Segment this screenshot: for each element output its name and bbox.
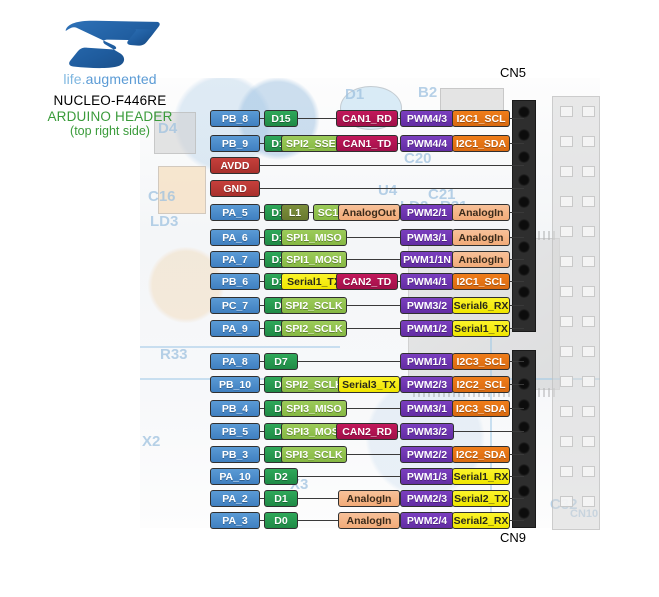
pin-label-pin[interactable]: PA_7	[210, 251, 260, 268]
signal-lead	[347, 454, 400, 455]
pin-label-pwm[interactable]: PWM1/1N	[400, 251, 454, 268]
signal-lead	[347, 259, 400, 260]
pin-label-pwm[interactable]: PWM3/1	[400, 229, 454, 246]
pin-label-pwm[interactable]: PWM1/3	[400, 468, 454, 485]
pin-row: PA_8D7PWM1/1I2C3_SCL	[0, 353, 659, 370]
pin-label-pin[interactable]: PB_8	[210, 110, 260, 127]
pin-row: PA_9D8SPI2_SCLKPWM1/2Serial1_TX	[0, 320, 659, 337]
pin-label-pin[interactable]: PA_6	[210, 229, 260, 246]
signal-lead-to-connector	[510, 237, 524, 238]
pin-label-can[interactable]: CAN1_RD	[336, 110, 398, 127]
pin-label-pwm[interactable]: PWM2/4	[400, 512, 454, 529]
pin-label-spi[interactable]: SPI2_SCLK	[281, 297, 347, 314]
signal-lead-to-connector	[510, 328, 524, 329]
pin-label-pin[interactable]: PA_3	[210, 512, 260, 529]
signal-lead-to-connector	[510, 118, 524, 119]
signal-lead-to-connector	[510, 454, 524, 455]
pin-label-pin[interactable]: PB_4	[210, 400, 260, 417]
pin-label-dnum[interactable]: D7	[264, 353, 298, 370]
signal-lead-to-connector	[260, 165, 524, 166]
pin-label-can[interactable]: CAN2_TD	[336, 273, 398, 290]
pin-label-pin[interactable]: PB_3	[210, 446, 260, 463]
pin-label-pwm[interactable]: PWM2/1	[400, 204, 454, 221]
pcb-silkscreen-label: B2	[418, 84, 437, 101]
signal-lead-to-connector	[510, 408, 524, 409]
pin-label-pin[interactable]: PA_2	[210, 490, 260, 507]
pin-label-pwm[interactable]: PWM2/3	[400, 376, 454, 393]
signal-lead	[298, 498, 338, 499]
pin-label-power[interactable]: AVDD	[210, 157, 260, 174]
pin-label-i2c[interactable]: I2C1_SCL	[452, 110, 510, 127]
pin-label-dnum[interactable]: D15	[264, 110, 298, 127]
pin-label-can[interactable]: CAN1_TD	[336, 135, 398, 152]
pin-label-i2c[interactable]: I2C2_SCL	[452, 376, 510, 393]
pin-label-i2c[interactable]: I2C2_SDA	[452, 446, 510, 463]
signal-lead	[347, 237, 400, 238]
pin-row: PA_2D1AnalogInPWM2/3Serial2_TX	[0, 490, 659, 507]
pin-label-pwm[interactable]: PWM2/2	[400, 446, 454, 463]
pin-label-pin[interactable]: PA_8	[210, 353, 260, 370]
pin-label-serial[interactable]: Serial6_RX	[452, 297, 510, 314]
pin-row: PB_9D14SPI2_SSELCAN1_TDPWM4/4I2C1_SDA	[0, 135, 659, 152]
pin-label-spi[interactable]: SPI2_SCLK	[281, 320, 347, 337]
pin-label-pwm[interactable]: PWM3/1	[400, 400, 454, 417]
pin-row: PB_5D4SPI3_MOSICAN2_RDPWM3/2	[0, 423, 659, 440]
pin-label-l1[interactable]: L1	[281, 204, 309, 221]
pin-row: AVDD	[0, 157, 659, 174]
tagline: life.augmented	[30, 71, 190, 87]
pin-label-i2c[interactable]: I2C3_SDA	[452, 400, 510, 417]
pin-label-pin[interactable]: PA_10	[210, 468, 260, 485]
pin-label-serial[interactable]: Serial2_TX	[452, 490, 510, 507]
pin-row: PC_7D9SPI2_SCLKPWM3/2Serial6_RX	[0, 297, 659, 314]
signal-lead	[347, 305, 400, 306]
pin-label-analog[interactable]: AnalogIn	[338, 490, 400, 507]
pin-label-analog[interactable]: AnalogIn	[452, 251, 510, 268]
pin-label-serial[interactable]: Serial2_RX	[452, 512, 510, 529]
signal-lead-to-connector	[510, 361, 524, 362]
pin-label-serial[interactable]: Serial1_RX	[452, 468, 510, 485]
signal-lead-to-connector	[454, 431, 524, 432]
pin-label-serial[interactable]: Serial1_TX	[452, 320, 510, 337]
pin-label-dnum[interactable]: D0	[264, 512, 298, 529]
pin-row: PA_7D11SPI1_MOSIPWM1/1NAnalogIn	[0, 251, 659, 268]
signal-lead-to-connector	[510, 520, 524, 521]
signal-lead	[347, 328, 400, 329]
signal-lead-to-connector	[510, 476, 524, 477]
pin-label-analog[interactable]: AnalogIn	[452, 229, 510, 246]
pin-label-pin[interactable]: PB_10	[210, 376, 260, 393]
pin-row: PB_3D3SPI3_SCLKPWM2/2I2C2_SDA	[0, 446, 659, 463]
signal-lead-to-connector	[510, 498, 524, 499]
pin-label-serial[interactable]: Serial3_TX	[338, 376, 400, 393]
signal-lead-to-connector	[260, 188, 524, 189]
signal-lead-to-connector	[510, 305, 524, 306]
signal-lead	[347, 408, 400, 409]
pin-label-can[interactable]: CAN2_RD	[336, 423, 398, 440]
st-logo-icon	[56, 18, 164, 70]
pin-row: PA_3D0AnalogInPWM2/4Serial2_RX	[0, 512, 659, 529]
signal-lead-to-connector	[510, 281, 524, 282]
pin-label-analog[interactable]: AnalogIn	[452, 204, 510, 221]
signal-lead-to-connector	[510, 259, 524, 260]
pin-label-pwm[interactable]: PWM2/3	[400, 490, 454, 507]
pin-row: PB_6D10Serial1_TXCAN2_TDPWM4/1I2C1_SCL	[0, 273, 659, 290]
pin-row: PB_10D6SPI2_SCLKSerial3_TXPWM2/3I2C2_SCL	[0, 376, 659, 393]
pin-label-pin[interactable]: PB_5	[210, 423, 260, 440]
pin-label-spi[interactable]: SPI1_MISO	[281, 229, 347, 246]
pin-label-analog[interactable]: AnalogIn	[338, 512, 400, 529]
tagline-life: life.	[63, 71, 85, 87]
pin-label-i2c[interactable]: I2C3_SCL	[452, 353, 510, 370]
pin-label-power[interactable]: GND	[210, 180, 260, 197]
connector-label-cn5: CN5	[500, 65, 526, 80]
pin-row: PA_6D12SPI1_MISOPWM3/1AnalogIn	[0, 229, 659, 246]
signal-lead-to-connector	[510, 143, 524, 144]
pcb-silkscreen-label: D1	[345, 86, 364, 103]
signal-lead-to-connector	[510, 212, 524, 213]
pin-label-spi[interactable]: SPI1_MOSI	[281, 251, 347, 268]
pin-label-i2c[interactable]: I2C1_SDA	[452, 135, 510, 152]
pin-row: GND	[0, 180, 659, 197]
pin-label-analog[interactable]: AnalogOut	[338, 204, 400, 221]
signal-lead	[298, 118, 336, 119]
pin-label-pwm[interactable]: PWM3/2	[400, 297, 454, 314]
pin-label-pin[interactable]: PB_6	[210, 273, 260, 290]
pin-label-spi[interactable]: SPI3_MISO	[281, 400, 347, 417]
pin-label-spi[interactable]: SPI3_SCLK	[281, 446, 347, 463]
pin-label-pwm[interactable]: PWM4/3	[400, 110, 454, 127]
pin-label-dnum[interactable]: D1	[264, 490, 298, 507]
pin-label-pin[interactable]: PA_5	[210, 204, 260, 221]
pin-row: PA_10D2PWM1/3Serial1_RX	[0, 468, 659, 485]
pin-row: PA_5D13L1SC1AnalogOutPWM2/1AnalogIn	[0, 204, 659, 221]
pin-label-dnum[interactable]: D2	[264, 468, 298, 485]
board-name: NUCLEO-F446RE	[30, 93, 190, 108]
pin-label-pin[interactable]: PA_9	[210, 320, 260, 337]
pin-label-pwm[interactable]: PWM4/4	[400, 135, 454, 152]
pin-label-pwm[interactable]: PWM1/1	[400, 353, 454, 370]
pin-label-pwm[interactable]: PWM4/1	[400, 273, 454, 290]
signal-lead-to-connector	[510, 384, 524, 385]
pin-row: PB_4D5SPI3_MISOPWM3/1I2C3_SDA	[0, 400, 659, 417]
pin-label-pwm[interactable]: PWM3/2	[400, 423, 454, 440]
tagline-augmented: augmented	[86, 71, 157, 87]
pin-label-pwm[interactable]: PWM1/2	[400, 320, 454, 337]
pin-label-i2c[interactable]: I2C1_SCL	[452, 273, 510, 290]
pin-row: PB_8D15CAN1_RDPWM4/3I2C1_SCL	[0, 110, 659, 127]
pin-label-pin[interactable]: PC_7	[210, 297, 260, 314]
signal-lead	[298, 476, 400, 477]
signal-lead	[298, 361, 400, 362]
connector-label-cn9: CN9	[500, 530, 526, 545]
pin-label-pin[interactable]: PB_9	[210, 135, 260, 152]
signal-lead	[298, 520, 338, 521]
